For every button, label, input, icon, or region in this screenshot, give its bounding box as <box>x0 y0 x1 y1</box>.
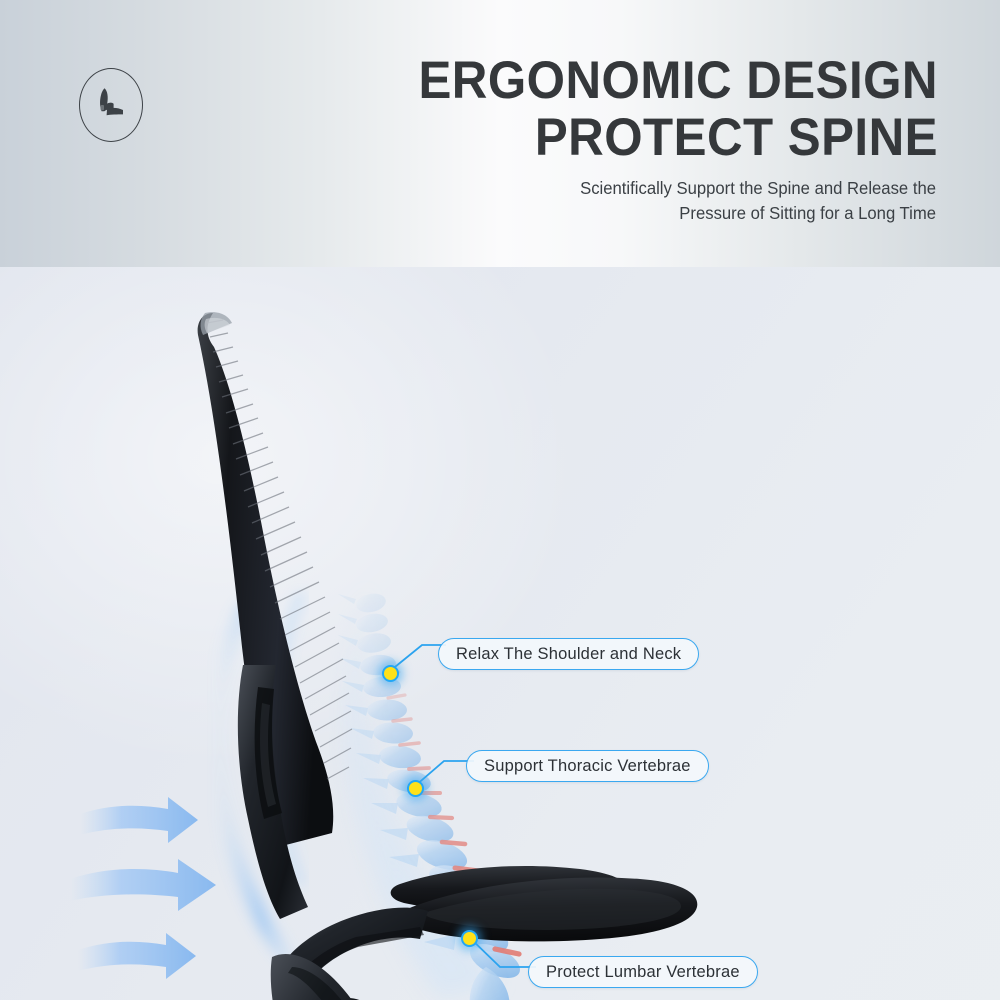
chair-mechanism <box>271 954 400 1000</box>
title-line-2: PROTECT SPINE <box>343 109 938 166</box>
page-subtitle: Scientifically Support the Spine and Rel… <box>296 176 936 226</box>
marker-dot-neck <box>382 665 399 682</box>
marker-dot-thoracic <box>407 780 424 797</box>
chair-and-spine-illustration <box>0 267 1000 1000</box>
page-title: ERGONOMIC DESIGN PROTECT SPINE <box>298 52 938 166</box>
callout-relax-shoulder-neck: Relax The Shoulder and Neck <box>438 638 699 670</box>
title-line-1: ERGONOMIC DESIGN <box>343 52 938 109</box>
callout-support-thoracic-vertebrae: Support Thoracic Vertebrae <box>466 750 709 782</box>
marker-dot-lumbar <box>461 930 478 947</box>
poster-root: ERGONOMIC DESIGN PROTECT SPINE Scientifi… <box>0 0 1000 1000</box>
illustration-panel: Relax The Shoulder and Neck Support Thor… <box>0 267 1000 1000</box>
office-chair-circle-logo-icon <box>79 68 143 142</box>
header-banner: ERGONOMIC DESIGN PROTECT SPINE Scientifi… <box>0 0 1000 268</box>
subtitle-line-1: Scientifically Support the Spine and Rel… <box>315 176 936 201</box>
subtitle-line-2: Pressure of Sitting for a Long Time <box>315 201 936 226</box>
callout-protect-lumbar-vertebrae: Protect Lumbar Vertebrae <box>528 956 758 988</box>
